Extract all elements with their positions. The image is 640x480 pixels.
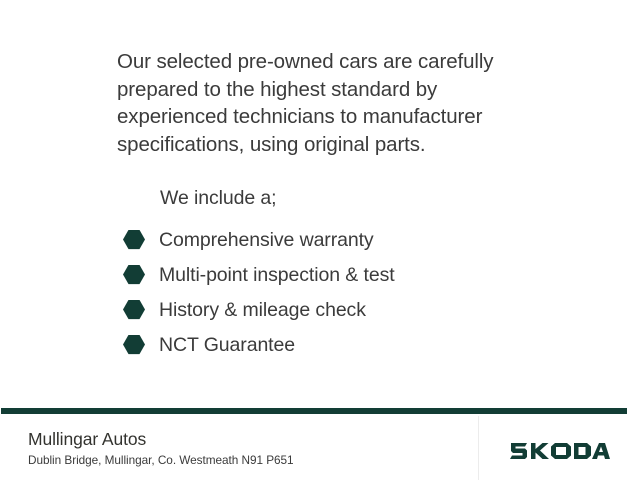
list-item: NCT Guarantee <box>123 327 563 362</box>
dealer-info: Mullingar Autos Dublin Bridge, Mullingar… <box>28 428 294 468</box>
skoda-wordmark-icon <box>510 440 610 460</box>
list-item-label: Comprehensive warranty <box>159 228 374 252</box>
hexagon-bullet-icon <box>123 300 145 320</box>
intro-line-1: Our selected pre-owned cars are carefull… <box>117 48 547 76</box>
intro-line-2: prepared to the highest standard by <box>117 76 547 104</box>
list-item-label: NCT Guarantee <box>159 333 295 357</box>
dealer-name: Mullingar Autos <box>28 428 294 450</box>
list-item: Multi-point inspection & test <box>123 257 563 292</box>
inclusions-list: Comprehensive warranty Multi-point inspe… <box>123 222 563 362</box>
footer-vertical-divider <box>478 416 479 480</box>
footer-bar: Mullingar Autos Dublin Bridge, Mullingar… <box>0 414 640 480</box>
intro-line-4: specifications, using original parts. <box>117 131 547 159</box>
list-item-label: Multi-point inspection & test <box>159 263 395 287</box>
intro-line-3: experienced technicians to manufacturer <box>117 103 547 131</box>
advertisement-canvas: Our selected pre-owned cars are carefull… <box>0 0 640 480</box>
hexagon-bullet-icon <box>123 335 145 355</box>
hexagon-bullet-icon <box>123 265 145 285</box>
list-item: History & mileage check <box>123 292 563 327</box>
include-lead-in: We include a; <box>160 185 277 211</box>
intro-paragraph: Our selected pre-owned cars are carefull… <box>117 48 547 158</box>
list-item-label: History & mileage check <box>159 298 366 322</box>
hexagon-bullet-icon <box>123 230 145 250</box>
dealer-address: Dublin Bridge, Mullingar, Co. Westmeath … <box>28 453 294 468</box>
list-item: Comprehensive warranty <box>123 222 563 257</box>
